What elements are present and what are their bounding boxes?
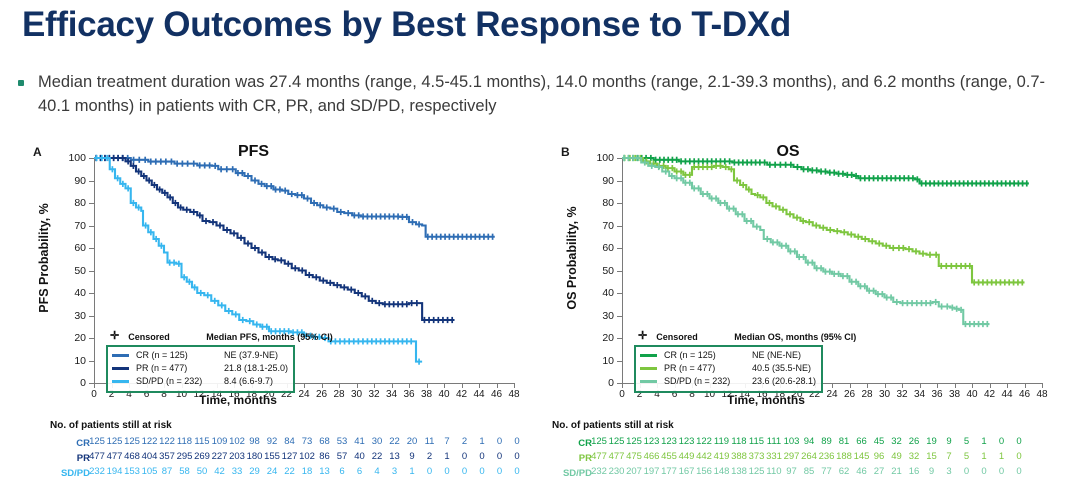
risk-cell: 22: [284, 466, 295, 477]
risk-cell: 22: [372, 451, 383, 462]
legend-series-median: NE (NE-NE): [752, 350, 801, 360]
x-tick-label: 36: [403, 389, 414, 400]
risk-cell: 125: [749, 466, 765, 477]
risk-table-row: CR12512512512212211811510910298928473685…: [50, 436, 518, 451]
y-tick-label: 10: [74, 355, 86, 367]
risk-cell: 4: [374, 466, 379, 477]
risk-cell: 16: [909, 466, 920, 477]
risk-table-title: No. of patients still at risk: [50, 420, 518, 431]
risk-cell: 197: [644, 466, 660, 477]
risk-cell: 87: [162, 466, 173, 477]
legend-metric-label: Median PFS, months (95% CI): [206, 332, 333, 342]
risk-cell: 110: [766, 466, 781, 477]
risk-cell: 1: [409, 466, 414, 477]
legend-color-swatch: [640, 354, 657, 357]
y-axis-label-os: OS Probability, %: [565, 206, 579, 309]
risk-cell: 264: [801, 451, 817, 462]
risk-cell: 156: [696, 466, 712, 477]
risk-cell: 122: [159, 436, 175, 447]
x-tick-label: 48: [1036, 389, 1047, 400]
risk-cell: 125: [626, 436, 642, 447]
risk-table-row: SD/PD23223020719717716715614813812511097…: [552, 466, 1020, 481]
risk-cell: 138: [731, 466, 747, 477]
risk-cell: 45: [874, 436, 885, 447]
risk-cell: 49: [891, 451, 902, 462]
chart-legend: ✛CensoredMedian OS, months (95% CI)CR (n…: [634, 345, 823, 393]
risk-cell: 2: [427, 451, 432, 462]
risk-cell: 227: [212, 451, 228, 462]
risk-cell: 203: [229, 451, 245, 462]
risk-cell: 3: [946, 466, 951, 477]
y-tick-label: 0: [608, 377, 614, 389]
risk-cell: 86: [319, 451, 330, 462]
legend-series-median: 8.4 (6.6-9.7): [224, 376, 273, 386]
risk-cell: 194: [107, 466, 123, 477]
slide-root: Efficacy Outcomes by Best Response to T-…: [0, 0, 1080, 500]
y-tick-label: 20: [74, 332, 86, 344]
risk-cell: 145: [854, 451, 870, 462]
censor-marks-1: [96, 155, 452, 323]
x-tick-label: 24: [298, 389, 309, 400]
risk-cell: 297: [784, 451, 800, 462]
y-tick-label: 80: [74, 197, 86, 209]
risk-cell: 357: [159, 451, 175, 462]
risk-cell: 232: [591, 466, 607, 477]
x-axis-label-os: Time, months: [727, 393, 805, 407]
risk-cell: 295: [177, 451, 193, 462]
risk-cell: 477: [107, 451, 123, 462]
km-curve-0: [94, 158, 495, 237]
risk-cell: 153: [124, 466, 140, 477]
risk-cell: 0: [514, 436, 519, 447]
risk-cell: 0: [444, 466, 449, 477]
risk-cell: 3: [392, 466, 397, 477]
risk-table-os: No. of patients still at riskCR125125125…: [552, 420, 1020, 481]
risk-cell: 77: [821, 466, 832, 477]
x-tick-label: 34: [914, 389, 925, 400]
risk-cell: 115: [749, 436, 764, 447]
x-tick-label: 48: [508, 389, 519, 400]
y-tick-label: 0: [80, 377, 86, 389]
y-tick-label: 10: [602, 355, 614, 367]
y-tick-label: 40: [602, 287, 614, 299]
legend-color-swatch: [112, 354, 129, 357]
risk-row-values: 1251251251231231231221191181151111039489…: [599, 436, 1020, 451]
risk-cell: 477: [609, 451, 625, 462]
plot-area-pfs: 0102030405060708090100024681012141618202…: [94, 158, 514, 383]
y-tick-label: 60: [602, 242, 614, 254]
risk-cell: 0: [514, 466, 519, 477]
risk-cell: 11: [425, 436, 435, 447]
risk-cell: 102: [229, 436, 245, 447]
risk-cell: 103: [784, 436, 800, 447]
risk-cell: 177: [661, 466, 677, 477]
legend-color-swatch: [640, 380, 657, 383]
x-tick-label: 44: [1001, 389, 1012, 400]
risk-cell: 27: [874, 466, 885, 477]
x-tick-label: 42: [984, 389, 995, 400]
risk-row-values: 4774774684043572952692272031801551271028…: [97, 451, 518, 466]
risk-cell: 232: [89, 466, 105, 477]
bullet-item: Median treatment duration was 27.4 month…: [18, 70, 1063, 118]
legend-series-median: 21.8 (18.1-25.0): [224, 363, 288, 373]
risk-cell: 30: [372, 436, 383, 447]
risk-cell: 0: [1016, 466, 1021, 477]
risk-cell: 18: [302, 466, 313, 477]
risk-cell: 466: [644, 451, 660, 462]
risk-cell: 119: [714, 436, 729, 447]
risk-cell: 404: [142, 451, 158, 462]
risk-cell: 13: [389, 451, 400, 462]
risk-cell: 2: [462, 436, 467, 447]
risk-cell: 89: [821, 436, 832, 447]
risk-cell: 5: [964, 451, 969, 462]
x-tick-label: 0: [91, 389, 97, 400]
x-tick-label: 32: [368, 389, 379, 400]
risk-cell: 468: [124, 451, 140, 462]
risk-cell: 98: [249, 436, 260, 447]
bullet-dot-icon: [18, 80, 24, 86]
risk-cell: 125: [591, 436, 607, 447]
risk-cell: 269: [194, 451, 210, 462]
y-tick-label: 60: [74, 242, 86, 254]
risk-cell: 0: [999, 466, 1004, 477]
risk-cell: 118: [731, 436, 746, 447]
risk-cell: 0: [462, 466, 467, 477]
panel-pfs: A PFS PFS Probability, % 010203040506070…: [28, 140, 543, 500]
risk-cell: 477: [89, 451, 105, 462]
x-tick-label: 26: [316, 389, 327, 400]
legend-item-1[interactable]: PR (n = 477)21.8 (18.1-25.0): [112, 362, 288, 375]
chart-legend: ✛CensoredMedian PFS, months (95% CI)CR (…: [106, 345, 295, 393]
risk-cell: 111: [767, 436, 781, 447]
risk-cell: 0: [497, 466, 502, 477]
risk-cell: 0: [479, 466, 484, 477]
legend-series-median: NE (37.9-NE): [224, 350, 278, 360]
y-tick-label: 100: [596, 152, 614, 164]
km-curve-1: [622, 158, 1025, 282]
legend-color-swatch: [640, 367, 657, 370]
page-title: Efficacy Outcomes by Best Response to T-…: [22, 2, 1062, 48]
risk-cell: 1: [999, 451, 1004, 462]
y-tick-label: 20: [602, 332, 614, 344]
risk-cell: 123: [661, 436, 677, 447]
y-axis-label-pfs: PFS Probability, %: [37, 203, 51, 313]
risk-cell: 40: [354, 451, 365, 462]
risk-cell: 32: [891, 436, 902, 447]
risk-cell: 0: [964, 466, 969, 477]
risk-table-row: PR47747747546645544944241938837333129726…: [552, 451, 1020, 466]
risk-cell: 62: [839, 466, 850, 477]
risk-cell: 0: [427, 466, 432, 477]
legend-metric-label: Median OS, months (95% CI): [734, 332, 856, 342]
risk-cell: 26: [909, 436, 920, 447]
x-tick-label: 28: [861, 389, 872, 400]
censor-marks-0: [96, 155, 492, 240]
risk-cell: 123: [644, 436, 660, 447]
risk-cell: 96: [874, 451, 885, 462]
legend-series-median: 23.6 (20.6-28.1): [752, 376, 816, 386]
risk-cell: 0: [497, 451, 502, 462]
risk-cell: 58: [179, 466, 190, 477]
risk-cell: 5: [964, 436, 969, 447]
risk-cell: 455: [661, 451, 677, 462]
risk-cell: 24: [267, 466, 278, 477]
x-tick-label: 40: [438, 389, 449, 400]
legend-item-2[interactable]: SD/PD (n = 232)8.4 (6.6-9.7): [112, 375, 288, 388]
risk-cell: 122: [696, 436, 712, 447]
risk-cell: 180: [247, 451, 263, 462]
risk-cell: 1: [981, 436, 986, 447]
risk-cell: 41: [354, 436, 365, 447]
legend-censored-label: Censored: [128, 332, 206, 342]
risk-cell: 0: [1016, 436, 1021, 447]
risk-cell: 9: [946, 436, 951, 447]
risk-cell: 373: [749, 451, 765, 462]
risk-cell: 477: [591, 451, 607, 462]
risk-cell: 475: [626, 451, 642, 462]
risk-cell: 6: [339, 466, 344, 477]
y-tick-label: 100: [68, 152, 86, 164]
bullet-text: Median treatment duration was 27.4 month…: [38, 70, 1063, 118]
legend-box: CR (n = 125)NE (NE-NE)PR (n = 477)40.5 (…: [634, 345, 823, 393]
risk-cell: 92: [267, 436, 278, 447]
x-tick-label: 38: [949, 389, 960, 400]
x-tick-label: 46: [491, 389, 502, 400]
risk-cell: 32: [909, 451, 920, 462]
x-tick-label: 30: [351, 389, 362, 400]
legend-header: ✛CensoredMedian PFS, months (95% CI): [110, 332, 333, 342]
risk-cell: 50: [197, 466, 208, 477]
legend-series-name: SD/PD (n = 232): [664, 376, 752, 386]
risk-cell: 94: [804, 436, 815, 447]
risk-cell: 125: [124, 436, 140, 447]
y-tick-label: 50: [602, 265, 614, 277]
censored-plus-icon: ✛: [110, 332, 119, 341]
risk-cell: 0: [462, 451, 467, 462]
legend-item-2[interactable]: SD/PD (n = 232)23.6 (20.6-28.1): [640, 375, 816, 388]
risk-table-row: SD/PD23219415310587585042332924221813664…: [50, 466, 518, 481]
risk-cell: 13: [319, 466, 330, 477]
risk-cell: 0: [981, 466, 986, 477]
y-tick-label: 90: [74, 175, 86, 187]
legend-box: CR (n = 125)NE (37.9-NE)PR (n = 477)21.8…: [106, 345, 295, 393]
risk-cell: 0: [497, 436, 502, 447]
risk-cell: 167: [679, 466, 695, 477]
risk-cell: 155: [264, 451, 280, 462]
risk-cell: 53: [337, 436, 348, 447]
y-tick-label: 90: [602, 175, 614, 187]
x-tick-label: 38: [421, 389, 432, 400]
risk-cell: 97: [786, 466, 797, 477]
legend-item-0[interactable]: CR (n = 125)NE (37.9-NE): [112, 349, 288, 362]
risk-cell: 9: [929, 466, 934, 477]
risk-table-title: No. of patients still at risk: [552, 420, 1020, 431]
risk-cell: 7: [444, 436, 449, 447]
x-tick-label: 36: [931, 389, 942, 400]
x-tick-label: 24: [826, 389, 837, 400]
risk-cell: 1: [444, 451, 449, 462]
risk-cell: 84: [284, 436, 295, 447]
risk-cell: 148: [714, 466, 730, 477]
risk-cell: 388: [731, 451, 747, 462]
censored-plus-icon: ✛: [638, 332, 647, 341]
risk-cell: 109: [212, 436, 228, 447]
risk-cell: 230: [609, 466, 625, 477]
risk-cell: 419: [714, 451, 730, 462]
risk-row-values: 2322302071971771671561481381251109785776…: [599, 466, 1020, 481]
risk-cell: 125: [107, 436, 123, 447]
risk-table-pfs: No. of patients still at riskCR125125125…: [50, 420, 518, 481]
km-curve-1: [94, 158, 455, 320]
risk-cell: 122: [142, 436, 158, 447]
risk-cell: 0: [514, 451, 519, 462]
y-tick-label: 80: [602, 197, 614, 209]
legend-item-0[interactable]: CR (n = 125)NE (NE-NE): [640, 349, 816, 362]
risk-cell: 7: [946, 451, 951, 462]
legend-series-name: PR (n = 477): [136, 363, 224, 373]
risk-cell: 125: [609, 436, 625, 447]
legend-series-name: PR (n = 477): [664, 363, 752, 373]
panel-os: B OS OS Probability, % 01020304050607080…: [556, 140, 1076, 500]
risk-cell: 15: [926, 451, 937, 462]
x-tick-label: 30: [879, 389, 890, 400]
y-tick-label: 30: [74, 310, 86, 322]
x-tick-label: 42: [456, 389, 467, 400]
risk-cell: 68: [319, 436, 330, 447]
risk-cell: 127: [282, 451, 298, 462]
x-tick-label: 28: [333, 389, 344, 400]
risk-cell: 0: [1016, 451, 1021, 462]
plot-area-os: 0102030405060708090100024681012141618202…: [622, 158, 1042, 383]
x-tick-label: 32: [896, 389, 907, 400]
legend-series-median: 40.5 (35.5-NE): [752, 363, 811, 373]
x-tick-label: 44: [473, 389, 484, 400]
risk-cell: 20: [407, 436, 418, 447]
risk-cell: 449: [679, 451, 695, 462]
risk-cell: 85: [804, 466, 815, 477]
legend-series-name: CR (n = 125): [136, 350, 224, 360]
risk-cell: 66: [856, 436, 867, 447]
y-tick-label: 40: [74, 287, 86, 299]
y-tick-label: 30: [602, 310, 614, 322]
risk-cell: 57: [337, 451, 348, 462]
x-tick-label: 34: [386, 389, 397, 400]
y-tick-label: 50: [74, 265, 86, 277]
legend-color-swatch: [112, 367, 129, 370]
risk-cell: 207: [626, 466, 642, 477]
legend-series-name: SD/PD (n = 232): [136, 376, 224, 386]
risk-cell: 81: [839, 436, 850, 447]
risk-cell: 46: [856, 466, 867, 477]
risk-row-values: 1251251251221221181151091029892847368534…: [97, 436, 518, 451]
risk-cell: 118: [177, 436, 192, 447]
risk-cell: 22: [389, 436, 400, 447]
risk-cell: 33: [232, 466, 243, 477]
risk-cell: 9: [409, 451, 414, 462]
legend-item-1[interactable]: PR (n = 477)40.5 (35.5-NE): [640, 362, 816, 375]
risk-cell: 21: [891, 466, 902, 477]
legend-censored-label: Censored: [656, 332, 734, 342]
risk-cell: 1: [981, 451, 986, 462]
risk-table-row: CR12512512512312312312211911811511110394…: [552, 436, 1020, 451]
legend-color-swatch: [112, 380, 129, 383]
legend-series-name: CR (n = 125): [664, 350, 752, 360]
risk-cell: 236: [819, 451, 835, 462]
x-tick-label: 26: [844, 389, 855, 400]
y-tick-label: 70: [74, 220, 86, 232]
risk-cell: 105: [142, 466, 158, 477]
risk-cell: 0: [479, 451, 484, 462]
risk-cell: 42: [214, 466, 225, 477]
risk-cell: 188: [836, 451, 852, 462]
risk-cell: 125: [89, 436, 105, 447]
risk-cell: 1: [479, 436, 484, 447]
risk-cell: 73: [302, 436, 313, 447]
risk-cell: 0: [999, 436, 1004, 447]
legend-header: ✛CensoredMedian OS, months (95% CI): [638, 332, 856, 342]
y-tick-label: 70: [602, 220, 614, 232]
x-tick-label: 46: [1019, 389, 1030, 400]
risk-row-values: 2321941531058758504233292422181366431000…: [97, 466, 518, 481]
risk-cell: 102: [299, 451, 315, 462]
risk-cell: 123: [679, 436, 695, 447]
x-tick-label: 0: [619, 389, 625, 400]
risk-cell: 115: [194, 436, 209, 447]
risk-row-values: 4774774754664554494424193883733312972642…: [599, 451, 1020, 466]
risk-table-row: PR47747746840435729526922720318015512710…: [50, 451, 518, 466]
x-axis-label-pfs: Time, months: [199, 393, 277, 407]
risk-cell: 442: [696, 451, 712, 462]
risk-cell: 6: [357, 466, 362, 477]
x-tick-label: 40: [966, 389, 977, 400]
risk-cell: 331: [766, 451, 782, 462]
risk-cell: 29: [249, 466, 260, 477]
risk-cell: 19: [926, 436, 937, 447]
